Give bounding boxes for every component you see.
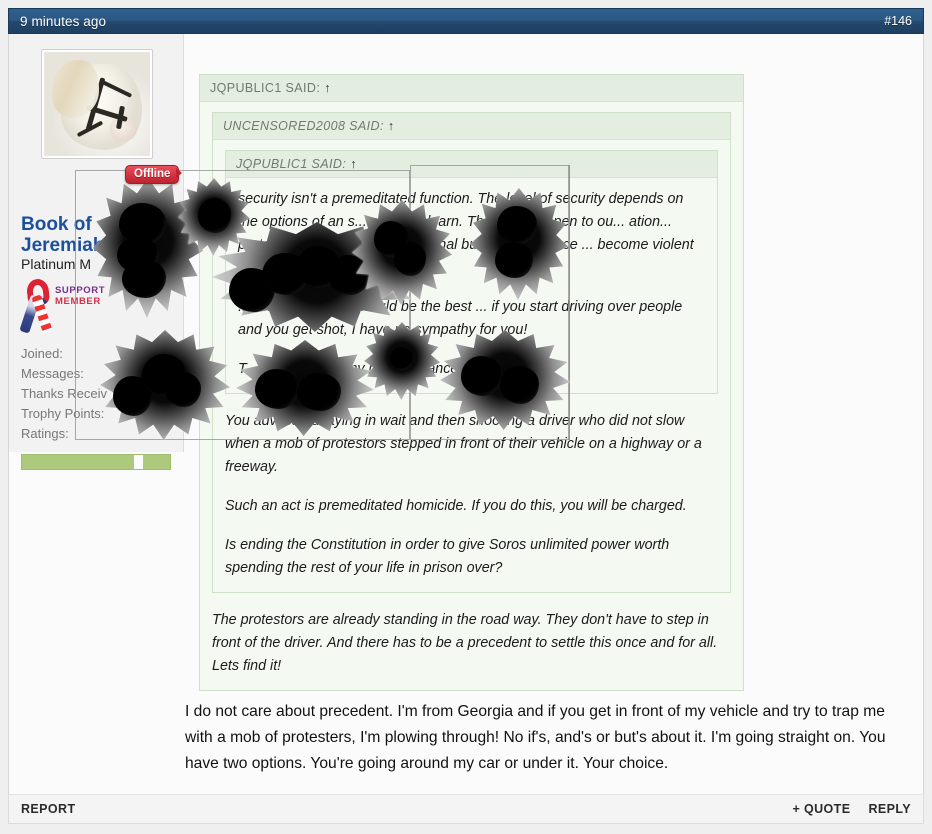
quote-outer-header[interactable]: JQPUBLIC1 SAID:↑ bbox=[200, 75, 743, 102]
stat-label: Ratings: bbox=[21, 426, 69, 441]
report-button[interactable]: REPORT bbox=[21, 802, 76, 816]
username-link[interactable]: Book of Jeremiah bbox=[21, 214, 141, 256]
quote-inner-paragraph: T... n... matter ... my pro-life stance … bbox=[238, 358, 705, 381]
flag-ribbon-icon bbox=[21, 279, 55, 333]
badge-line-1: SUPPORT bbox=[55, 285, 109, 296]
stat-label: Thanks Receiv bbox=[21, 386, 107, 401]
post-header: 9 minutes ago #146 bbox=[8, 8, 924, 34]
avatar-image-horse bbox=[44, 52, 150, 156]
stat-joined: Joined: Nov 1 bbox=[21, 346, 181, 366]
footer-right: + QUOTE REPLY bbox=[792, 802, 911, 816]
post-number[interactable]: #146 bbox=[884, 14, 912, 28]
quote-middle-paragraph: Such an act is premeditated homicide. If… bbox=[225, 495, 718, 518]
quote-outer-paragraph: The protestors are already standing in t… bbox=[212, 609, 731, 678]
quote-middle: UNCENSORED2008 SAID:↑ JQPUBLIC1 SAID:↑ s… bbox=[212, 112, 731, 593]
quote-jump-arrow-icon[interactable]: ↑ bbox=[324, 81, 331, 95]
ratings-bar bbox=[21, 454, 171, 470]
quote-inner-paragraph: security isn't a premeditated function. … bbox=[238, 188, 705, 280]
quote-middle-paragraph: Is ending the Constitution in order to g… bbox=[225, 534, 718, 580]
avatar[interactable] bbox=[41, 49, 153, 159]
footer-left: REPORT bbox=[21, 802, 76, 816]
horse-halter bbox=[44, 52, 150, 156]
stat-thanks-received: Thanks Receiv bbox=[21, 386, 181, 406]
stat-label: Trophy Points: bbox=[21, 406, 104, 421]
user-stats: Joined: Nov 1 Messages: Thanks Receiv Tr… bbox=[21, 346, 181, 446]
quote-middle-author: UNCENSORED2008 SAID: bbox=[223, 119, 384, 133]
quote-middle-header[interactable]: UNCENSORED2008 SAID:↑ bbox=[213, 113, 730, 140]
quote-inner: JQPUBLIC1 SAID:↑ security isn't a premed… bbox=[225, 150, 718, 394]
forum-post: 9 minutes ago #146 Book of Jeremiah Plat… bbox=[0, 0, 932, 834]
support-member-text: SUPPORT MEMBER bbox=[55, 285, 109, 307]
user-sidebar: Book of Jeremiah Platinum M SUPPORT MEMB… bbox=[9, 34, 184, 452]
badge-line-2: MEMBER bbox=[55, 296, 109, 307]
quote-inner-author: JQPUBLIC1 SAID: bbox=[236, 157, 346, 171]
user-title: Platinum M bbox=[21, 256, 91, 272]
stat-label: Joined: bbox=[21, 346, 63, 361]
post-timestamp: 9 minutes ago bbox=[20, 14, 106, 29]
post-message-text: I do not care about precedent. I'm from … bbox=[185, 699, 915, 777]
post-body: Book of Jeremiah Platinum M SUPPORT MEMB… bbox=[8, 34, 924, 794]
quote-outer: JQPUBLIC1 SAID:↑ UNCENSORED2008 SAID:↑ J bbox=[199, 74, 744, 691]
stat-trophy-points: Trophy Points: bbox=[21, 406, 181, 426]
quote-button[interactable]: + QUOTE bbox=[792, 802, 850, 816]
quote-inner-header[interactable]: JQPUBLIC1 SAID:↑ bbox=[226, 151, 717, 178]
quote-inner-paragraph: ...u want... them ... would be the best … bbox=[238, 296, 705, 342]
quote-middle-paragraph: You advocated laying in wait and then sh… bbox=[225, 410, 718, 479]
quote-jump-arrow-icon[interactable]: ↑ bbox=[388, 119, 395, 133]
stat-ratings: Ratings: bbox=[21, 426, 181, 446]
support-member-badge: SUPPORT MEMBER bbox=[21, 277, 107, 335]
reply-button[interactable]: REPLY bbox=[868, 802, 911, 816]
stat-messages: Messages: bbox=[21, 366, 181, 386]
message-content: JQPUBLIC1 SAID:↑ UNCENSORED2008 SAID:↑ J bbox=[185, 34, 925, 794]
status-badge-offline: Offline bbox=[125, 165, 179, 184]
post-footer: REPORT + QUOTE REPLY bbox=[8, 794, 924, 824]
quote-jump-arrow-icon[interactable]: ↑ bbox=[350, 157, 357, 171]
stat-label: Messages: bbox=[21, 366, 84, 381]
quote-outer-author: JQPUBLIC1 SAID: bbox=[210, 81, 320, 95]
stat-value: Nov 1 bbox=[121, 346, 155, 361]
